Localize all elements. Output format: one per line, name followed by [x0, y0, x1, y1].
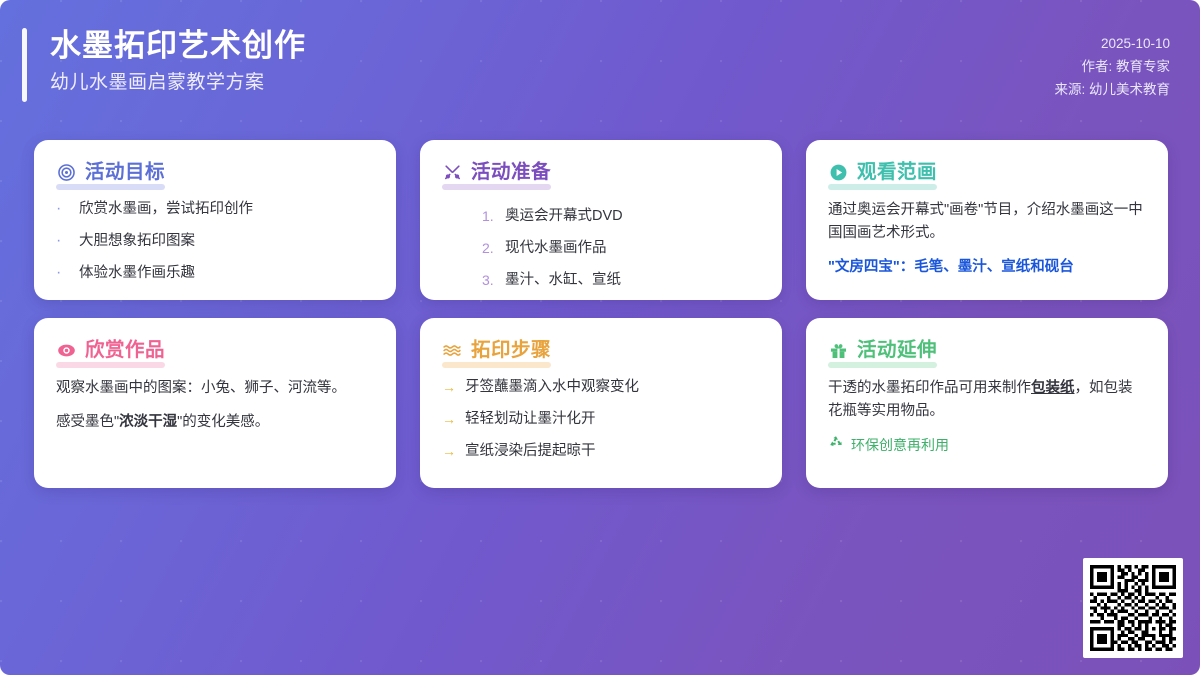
card-title: 拓印步骤 [471, 338, 551, 362]
arrow-bullet-icon: → [442, 377, 456, 397]
card-list: ·欣赏水墨画，尝试拓印创作·大胆想象拓印图案·体验水墨作画乐趣 [56, 199, 374, 283]
gift-icon [828, 340, 848, 360]
card-highlight-text: "文房四宝"：毛笔、墨汁、宣纸和砚台 [828, 256, 1146, 279]
recycle-icon [828, 434, 844, 456]
card-header: 活动准备 [442, 160, 551, 190]
card-title-underline [828, 184, 937, 190]
eye-icon [56, 340, 76, 360]
card-activity-preparation: 活动准备1.奥运会开幕式DVD2.现代水墨画作品3.墨汁、水缸、宣纸 [420, 140, 782, 300]
arrow-bullet-icon: → [442, 409, 456, 429]
list-item-text: 宣纸浸染后提起晾干 [465, 441, 596, 461]
card-header: 欣赏作品 [56, 338, 165, 368]
list-item: ·大胆想象拓印图案 [56, 231, 374, 251]
card-header: 活动目标 [56, 160, 165, 190]
card-paragraph: 通过奥运会开幕式"画卷"节目，介绍水墨画这一中国国画艺术形式。 [828, 199, 1146, 245]
card-paragraph: 干透的水墨拓印作品可用来制作包装纸，如包装花瓶等实用物品。 [828, 377, 1146, 423]
card-title: 活动延伸 [857, 338, 937, 362]
slide-root: 水墨拓印艺术创作 幼儿水墨画启蒙教学方案 2025-10-10 作者: 教育专家… [0, 0, 1200, 675]
card-title-underline [442, 184, 551, 190]
card-title: 观看范画 [857, 160, 937, 184]
paragraph-text-before: 感受墨色" [56, 414, 119, 430]
card-paragraph: 观察水墨画中的图案：小兔、狮子、河流等。 [56, 377, 374, 400]
list-number: 2. [482, 238, 496, 258]
card-title-underline [56, 362, 165, 368]
paragraph-text-before: 干透的水墨拓印作品可用来制作 [828, 380, 1031, 396]
paragraph-underlined-term: 包装纸 [1031, 380, 1075, 396]
list-item-text: 奥运会开幕式DVD [505, 206, 623, 226]
page-title: 水墨拓印艺术创作 [50, 26, 1170, 66]
qr-code[interactable] [1083, 558, 1183, 658]
list-item: ·欣赏水墨画，尝试拓印创作 [56, 199, 374, 219]
card-title-underline [828, 362, 937, 368]
list-item-text: 牙签蘸墨滴入水中观察变化 [465, 377, 639, 397]
list-number: 3. [482, 270, 496, 290]
paragraph-text-after: "的变化美感。 [177, 414, 269, 430]
list-item: ·体验水墨作画乐趣 [56, 263, 374, 283]
list-item-text: 现代水墨画作品 [505, 238, 607, 258]
card-grid: 活动目标·欣赏水墨画，尝试拓印创作·大胆想象拓印图案·体验水墨作画乐趣活动准备1… [34, 140, 1168, 488]
card-header: 观看范画 [828, 160, 937, 190]
header-accent-bar [22, 28, 27, 102]
list-item-text: 墨汁、水缸、宣纸 [505, 270, 621, 290]
slide-header: 水墨拓印艺术创作 幼儿水墨画启蒙教学方案 2025-10-10 作者: 教育专家… [0, 0, 1200, 128]
list-item: 3.墨汁、水缸、宣纸 [482, 270, 760, 290]
card-list: →牙签蘸墨滴入水中观察变化→轻轻划动让墨汁化开→宣纸浸染后提起晾干 [442, 377, 760, 461]
meta-source: 来源: 幼儿美术教育 [1054, 78, 1170, 101]
arrow-bullet-icon: → [442, 441, 456, 461]
card-paragraph: 感受墨色"浓淡干湿"的变化美感。 [56, 411, 374, 434]
card-title: 活动准备 [471, 160, 551, 184]
list-item-text: 大胆想象拓印图案 [79, 231, 195, 251]
list-item: 2.现代水墨画作品 [482, 238, 760, 258]
card-footer-text: 环保创意再利用 [851, 434, 949, 456]
waves-icon [442, 340, 462, 360]
list-number: 1. [482, 206, 496, 226]
card-appreciate-works: 欣赏作品观察水墨画中的图案：小兔、狮子、河流等。感受墨色"浓淡干湿"的变化美感。 [34, 318, 396, 488]
dot-bullet-icon: · [56, 231, 70, 251]
paragraph-bold-term: 浓淡干湿 [119, 414, 177, 430]
list-item-text: 轻轻划动让墨汁化开 [465, 409, 596, 429]
dot-bullet-icon: · [56, 199, 70, 219]
list-item: 1.奥运会开幕式DVD [482, 206, 760, 226]
dot-bullet-icon: · [56, 263, 70, 283]
tools-icon [442, 162, 462, 182]
page-subtitle: 幼儿水墨画启蒙教学方案 [50, 70, 1170, 96]
card-header: 活动延伸 [828, 338, 937, 368]
card-activity-extension: 活动延伸干透的水墨拓印作品可用来制作包装纸，如包装花瓶等实用物品。环保创意再利用 [806, 318, 1168, 488]
list-item-text: 欣赏水墨画，尝试拓印创作 [79, 199, 253, 219]
card-printing-steps: 拓印步骤→牙签蘸墨滴入水中观察变化→轻轻划动让墨汁化开→宣纸浸染后提起晾干 [420, 318, 782, 488]
list-item: →宣纸浸染后提起晾干 [442, 441, 760, 461]
meta-date: 2025-10-10 [1054, 32, 1170, 55]
card-footer-note: 环保创意再利用 [828, 434, 1146, 456]
play-icon [828, 162, 848, 182]
card-list: 1.奥运会开幕式DVD2.现代水墨画作品3.墨汁、水缸、宣纸 [442, 206, 760, 290]
qr-code-image [1090, 565, 1176, 651]
meta-author: 作者: 教育专家 [1054, 55, 1170, 78]
list-item-text: 体验水墨作画乐趣 [79, 263, 195, 283]
target-icon [56, 162, 76, 182]
card-title-underline [56, 184, 165, 190]
card-title-underline [442, 362, 551, 368]
header-meta: 2025-10-10 作者: 教育专家 来源: 幼儿美术教育 [1054, 32, 1170, 101]
card-header: 拓印步骤 [442, 338, 551, 368]
list-item: →牙签蘸墨滴入水中观察变化 [442, 377, 760, 397]
card-watch-sample: 观看范画通过奥运会开幕式"画卷"节目，介绍水墨画这一中国国画艺术形式。"文房四宝… [806, 140, 1168, 300]
card-title: 活动目标 [85, 160, 165, 184]
list-item: →轻轻划动让墨汁化开 [442, 409, 760, 429]
card-title: 欣赏作品 [85, 338, 165, 362]
card-activity-goals: 活动目标·欣赏水墨画，尝试拓印创作·大胆想象拓印图案·体验水墨作画乐趣 [34, 140, 396, 300]
